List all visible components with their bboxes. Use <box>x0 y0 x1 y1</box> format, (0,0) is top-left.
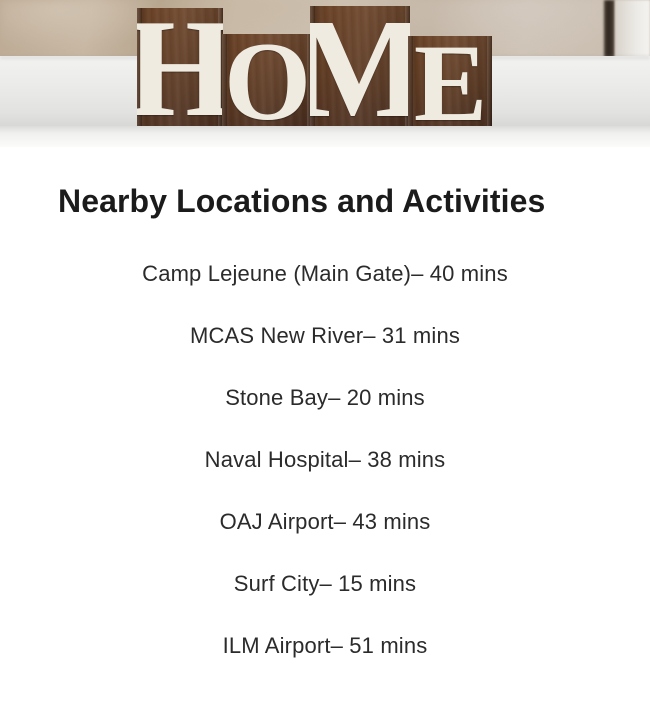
list-item: Naval Hospital– 38 mins <box>0 448 650 510</box>
letter-block-h: H <box>137 8 223 130</box>
hero-photo: H O M E <box>0 0 650 147</box>
nearby-locations-list: Camp Lejeune (Main Gate)– 40 mins MCAS N… <box>0 262 650 696</box>
letter-glyph-h: H <box>137 8 223 130</box>
list-item: OAJ Airport– 43 mins <box>0 510 650 572</box>
letter-block-m: M <box>310 6 410 130</box>
list-item: Camp Lejeune (Main Gate)– 40 mins <box>0 262 650 324</box>
list-item: Stone Bay– 20 mins <box>0 386 650 448</box>
letter-block-o: O <box>222 34 312 130</box>
letter-glyph-m: M <box>310 6 410 130</box>
letter-glyph-e: E <box>408 36 492 130</box>
page-root: H O M E Nearby Locations and Activities … <box>0 0 650 712</box>
window-frame-light-edge <box>615 0 650 62</box>
page-title: Nearby Locations and Activities <box>58 183 545 220</box>
list-item: Surf City– 15 mins <box>0 572 650 634</box>
window-frame-dark-edge <box>604 0 615 60</box>
shelf-front-edge <box>0 126 650 147</box>
letter-block-e: E <box>408 36 492 130</box>
content-panel: Nearby Locations and Activities Camp Lej… <box>0 147 650 712</box>
list-item: ILM Airport– 51 mins <box>0 634 650 696</box>
list-item: MCAS New River– 31 mins <box>0 324 650 386</box>
letter-glyph-o: O <box>222 34 312 130</box>
